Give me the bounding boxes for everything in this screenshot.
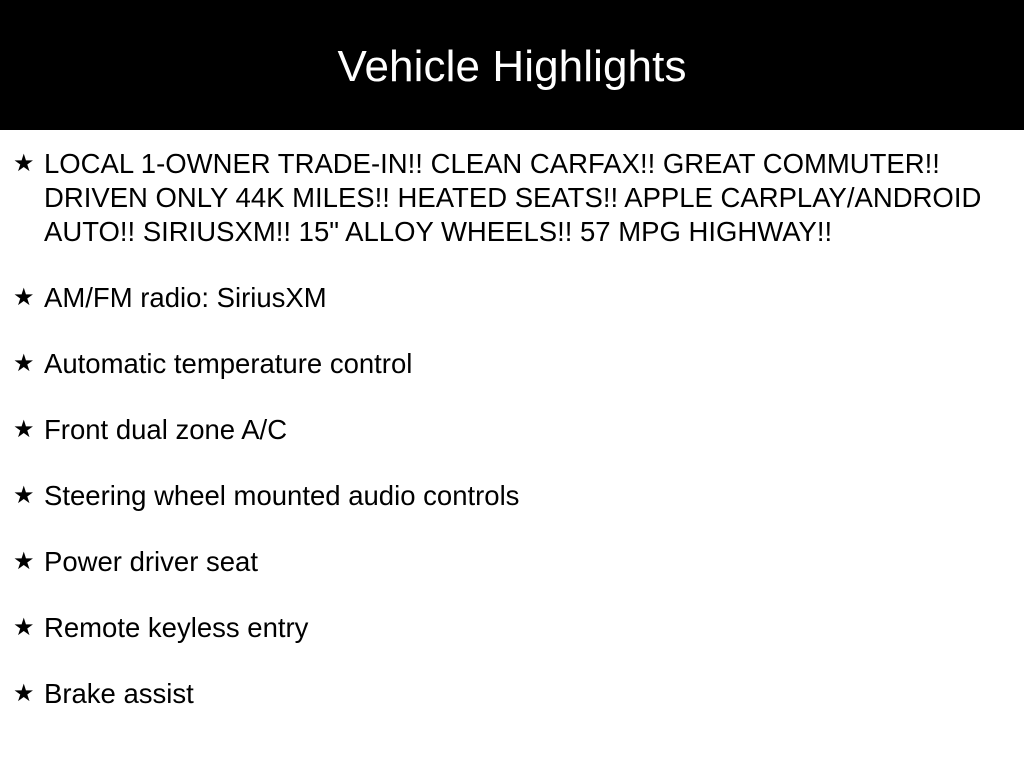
highlight-text: AM/FM radio: SiriusXM <box>44 281 999 315</box>
star-bullet-icon: ★ <box>13 147 44 181</box>
page-header-band: Vehicle Highlights <box>0 0 1024 130</box>
list-gap <box>0 513 1024 545</box>
list-gap <box>0 579 1024 611</box>
highlight-text: Remote keyless entry <box>44 611 999 645</box>
list-item: ★ LOCAL 1-OWNER TRADE-IN!! CLEAN CARFAX!… <box>0 147 1024 249</box>
star-bullet-icon: ★ <box>13 677 44 711</box>
highlight-text: Automatic temperature control <box>44 347 999 381</box>
star-bullet-icon: ★ <box>13 479 44 513</box>
vehicle-highlights-list: ★ LOCAL 1-OWNER TRADE-IN!! CLEAN CARFAX!… <box>0 147 1024 711</box>
highlight-text: Power driver seat <box>44 545 999 579</box>
list-gap <box>0 249 1024 281</box>
list-item: ★ AM/FM radio: SiriusXM <box>0 281 1024 315</box>
list-item: ★ Brake assist <box>0 677 1024 711</box>
list-item: ★ Automatic temperature control <box>0 347 1024 381</box>
page-title: Vehicle Highlights <box>337 40 686 90</box>
list-item: ★ Front dual zone A/C <box>0 413 1024 447</box>
highlight-text: Brake assist <box>44 677 999 711</box>
list-item: ★ Remote keyless entry <box>0 611 1024 645</box>
vehicle-highlights-page: Vehicle Highlights ★ LOCAL 1-OWNER TRADE… <box>0 0 1024 768</box>
star-bullet-icon: ★ <box>13 413 44 447</box>
list-gap <box>0 315 1024 347</box>
star-bullet-icon: ★ <box>13 347 44 381</box>
star-bullet-icon: ★ <box>13 281 44 315</box>
highlight-text: Front dual zone A/C <box>44 413 999 447</box>
list-top-spacer <box>0 130 1024 147</box>
star-bullet-icon: ★ <box>13 611 44 645</box>
highlight-text: LOCAL 1-OWNER TRADE-IN!! CLEAN CARFAX!! … <box>44 147 999 249</box>
list-gap <box>0 447 1024 479</box>
list-item: ★ Power driver seat <box>0 545 1024 579</box>
list-gap <box>0 645 1024 677</box>
list-gap <box>0 381 1024 413</box>
highlight-text: Steering wheel mounted audio controls <box>44 479 999 513</box>
list-item: ★ Steering wheel mounted audio controls <box>0 479 1024 513</box>
star-bullet-icon: ★ <box>13 545 44 579</box>
